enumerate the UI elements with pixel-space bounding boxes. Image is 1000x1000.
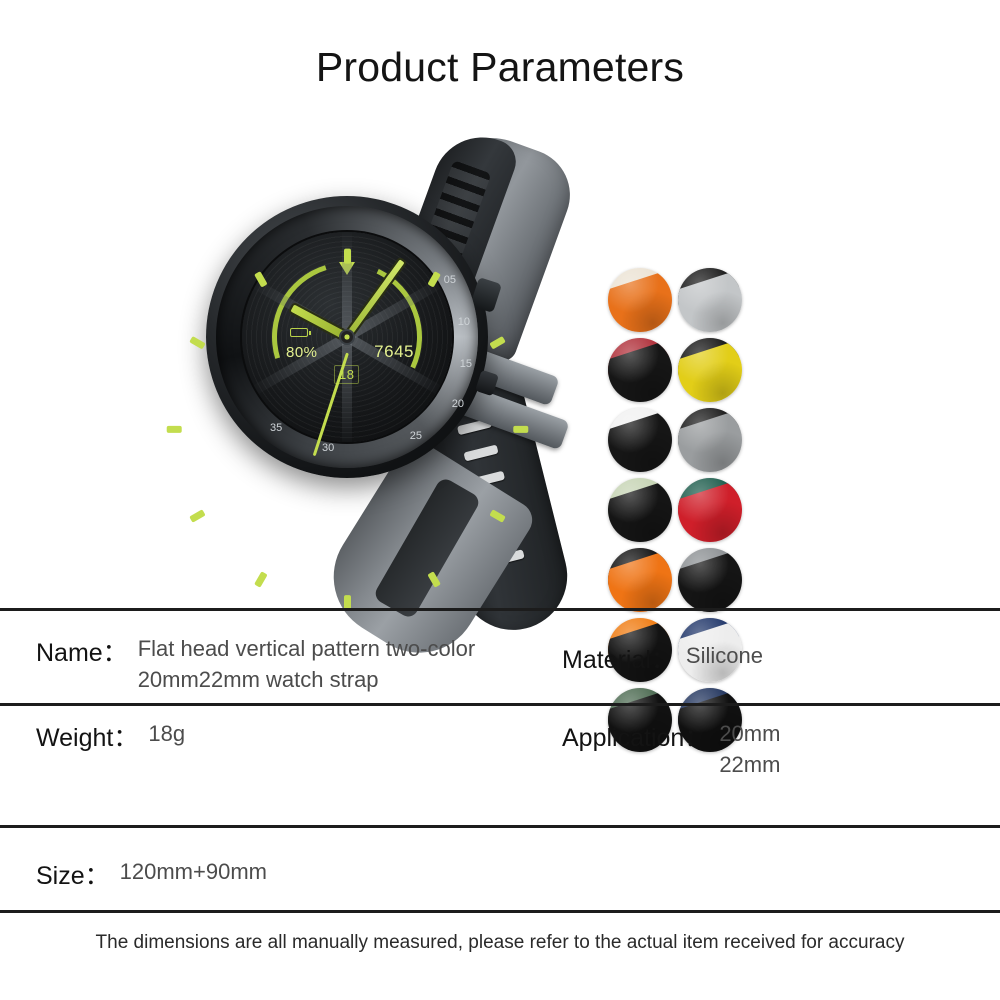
color-swatch-black-orange[interactable] xyxy=(608,548,672,612)
color-swatch-black-yellow[interactable] xyxy=(678,338,742,402)
spec-label-size: Size： xyxy=(36,856,110,892)
battery-icon xyxy=(290,328,308,337)
swatch-gloss xyxy=(678,408,742,472)
table-divider-top xyxy=(0,608,1000,611)
color-swatch-red-black[interactable] xyxy=(608,338,672,402)
swatch-gloss xyxy=(608,478,672,542)
bezel-numeral: 25 xyxy=(410,430,422,442)
spec-row-application: Application： 20mm 22mm xyxy=(562,718,780,780)
swatch-gloss xyxy=(678,338,742,402)
strap-hole xyxy=(463,444,498,461)
swatch-gloss xyxy=(608,268,672,332)
watch-dial-ring: 80% 7645 18 xyxy=(242,232,452,442)
spec-row-name: Name： Flat head vertical pattern two-col… xyxy=(36,633,556,695)
color-swatch-green-red[interactable] xyxy=(678,478,742,542)
spec-value-size: 120mm+90mm xyxy=(120,856,267,887)
disclaimer-text: The dimensions are all manually measured… xyxy=(0,932,1000,954)
color-swatch-white-black[interactable] xyxy=(608,408,672,472)
page-title: Product Parameters xyxy=(0,44,1000,91)
table-divider-1 xyxy=(0,703,1000,706)
dial-hour-marker xyxy=(185,334,269,386)
bezel-numeral: 15 xyxy=(460,358,472,370)
color-swatch-orange-cream[interactable] xyxy=(608,268,672,332)
spec-label-name: Name： xyxy=(36,633,128,669)
product-hero-image: 80% 7645 18 05 10 15 20 25 xyxy=(0,120,1000,590)
spec-label-material: Material： xyxy=(562,640,676,676)
watch-hands-hub xyxy=(339,329,355,345)
swatch-gloss xyxy=(678,548,742,612)
color-swatch-grid xyxy=(608,268,742,752)
table-divider-bottom xyxy=(0,910,1000,913)
swatch-gloss xyxy=(678,268,742,332)
spec-value-weight: 18g xyxy=(148,718,185,749)
table-divider-2 xyxy=(0,825,1000,828)
spec-value-application: 20mm 22mm xyxy=(719,718,780,780)
dial-hour-marker xyxy=(252,508,304,592)
swatch-gloss xyxy=(678,478,742,542)
watch-dial: 80% 7645 18 xyxy=(242,232,452,442)
color-swatch-black-grey[interactable] xyxy=(678,408,742,472)
bezel-numeral: 35 xyxy=(270,422,282,434)
bezel-numeral: 05 xyxy=(444,274,456,286)
spec-value-material: Silicone xyxy=(686,640,763,671)
color-swatch-grey-black[interactable] xyxy=(678,548,742,612)
watch-body: 80% 7645 18 05 10 15 20 25 xyxy=(206,196,488,478)
color-swatch-sage-black[interactable] xyxy=(608,478,672,542)
dial-hour-marker xyxy=(162,426,254,433)
smartwatch-illustration: 80% 7645 18 05 10 15 20 25 xyxy=(180,130,610,580)
watch-battery-value: 80% xyxy=(286,344,318,361)
watch-bezel: 80% 7645 18 05 10 15 20 25 xyxy=(216,206,478,468)
dial-hour-marker xyxy=(439,426,531,433)
swatch-gloss xyxy=(608,408,672,472)
bezel-numeral: 30 xyxy=(322,442,334,454)
swatch-gloss xyxy=(608,548,672,612)
color-swatch-black-silver[interactable] xyxy=(678,268,742,332)
bezel-numeral: 10 xyxy=(458,316,470,328)
spec-value-name: Flat head vertical pattern two-color 20m… xyxy=(138,633,538,695)
dial-hour-marker xyxy=(344,522,351,614)
swatch-gloss xyxy=(608,338,672,402)
spec-row-weight: Weight： 18g xyxy=(36,718,185,754)
spec-label-application: Application： xyxy=(562,718,709,754)
spec-label-weight: Weight： xyxy=(36,718,138,754)
watch-steps-value: 7645 xyxy=(374,342,414,362)
spec-row-size: Size： 120mm+90mm xyxy=(36,856,267,892)
bezel-numeral: 20 xyxy=(452,398,464,410)
product-parameters-page: Product Parameters xyxy=(0,0,1000,1000)
dial-hour-marker xyxy=(185,473,269,525)
spec-row-material: Material： Silicone xyxy=(562,640,763,676)
